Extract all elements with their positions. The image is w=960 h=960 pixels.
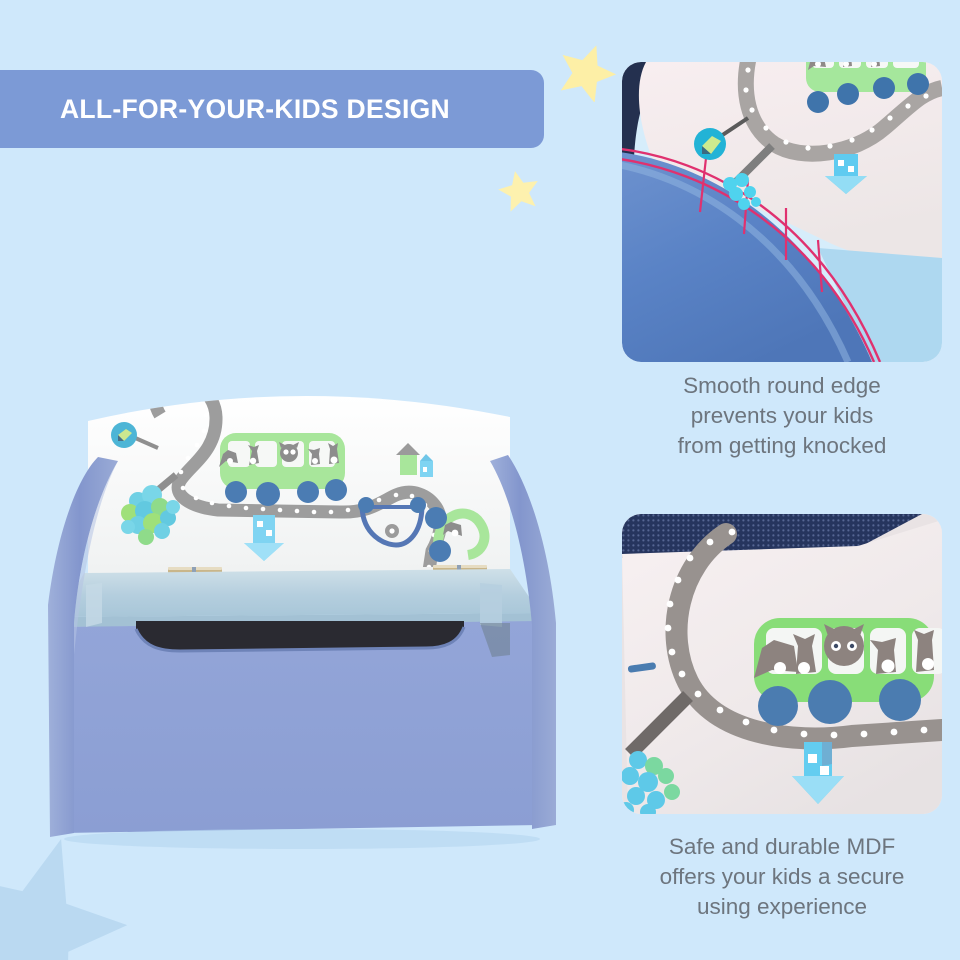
detail-card-safe-durable-mdf [622,514,942,814]
lid-handle-cutout [136,621,464,651]
caption-smooth-round-edge: Smooth round edge prevents your kids fro… [614,371,950,461]
star-decoration-small [497,168,541,212]
caption-line: Smooth round edge [614,371,950,401]
caption-line: offers your kids a secure [614,862,950,892]
headline-title: ALL-FOR-YOUR-KIDS DESIGN [60,94,450,125]
caption-line: prevents your kids [614,401,950,431]
headline-banner: ALL-FOR-YOUR-KIDS DESIGN [0,70,544,148]
caption-line: Safe and durable MDF [614,832,950,862]
infographic-stage: ALL-FOR-YOUR-KIDS DESIGN [0,0,960,960]
caption-safe-durable-mdf: Safe and durable MDF offers your kids a … [614,832,950,922]
product-photo-toy-box [40,355,600,855]
bus-graphic-closeup [754,618,942,726]
caption-line: using experience [614,892,950,922]
caption-line: from getting knocked [614,431,950,461]
star-decoration-large [556,40,618,102]
detail-card-smooth-round-edge [622,62,942,362]
